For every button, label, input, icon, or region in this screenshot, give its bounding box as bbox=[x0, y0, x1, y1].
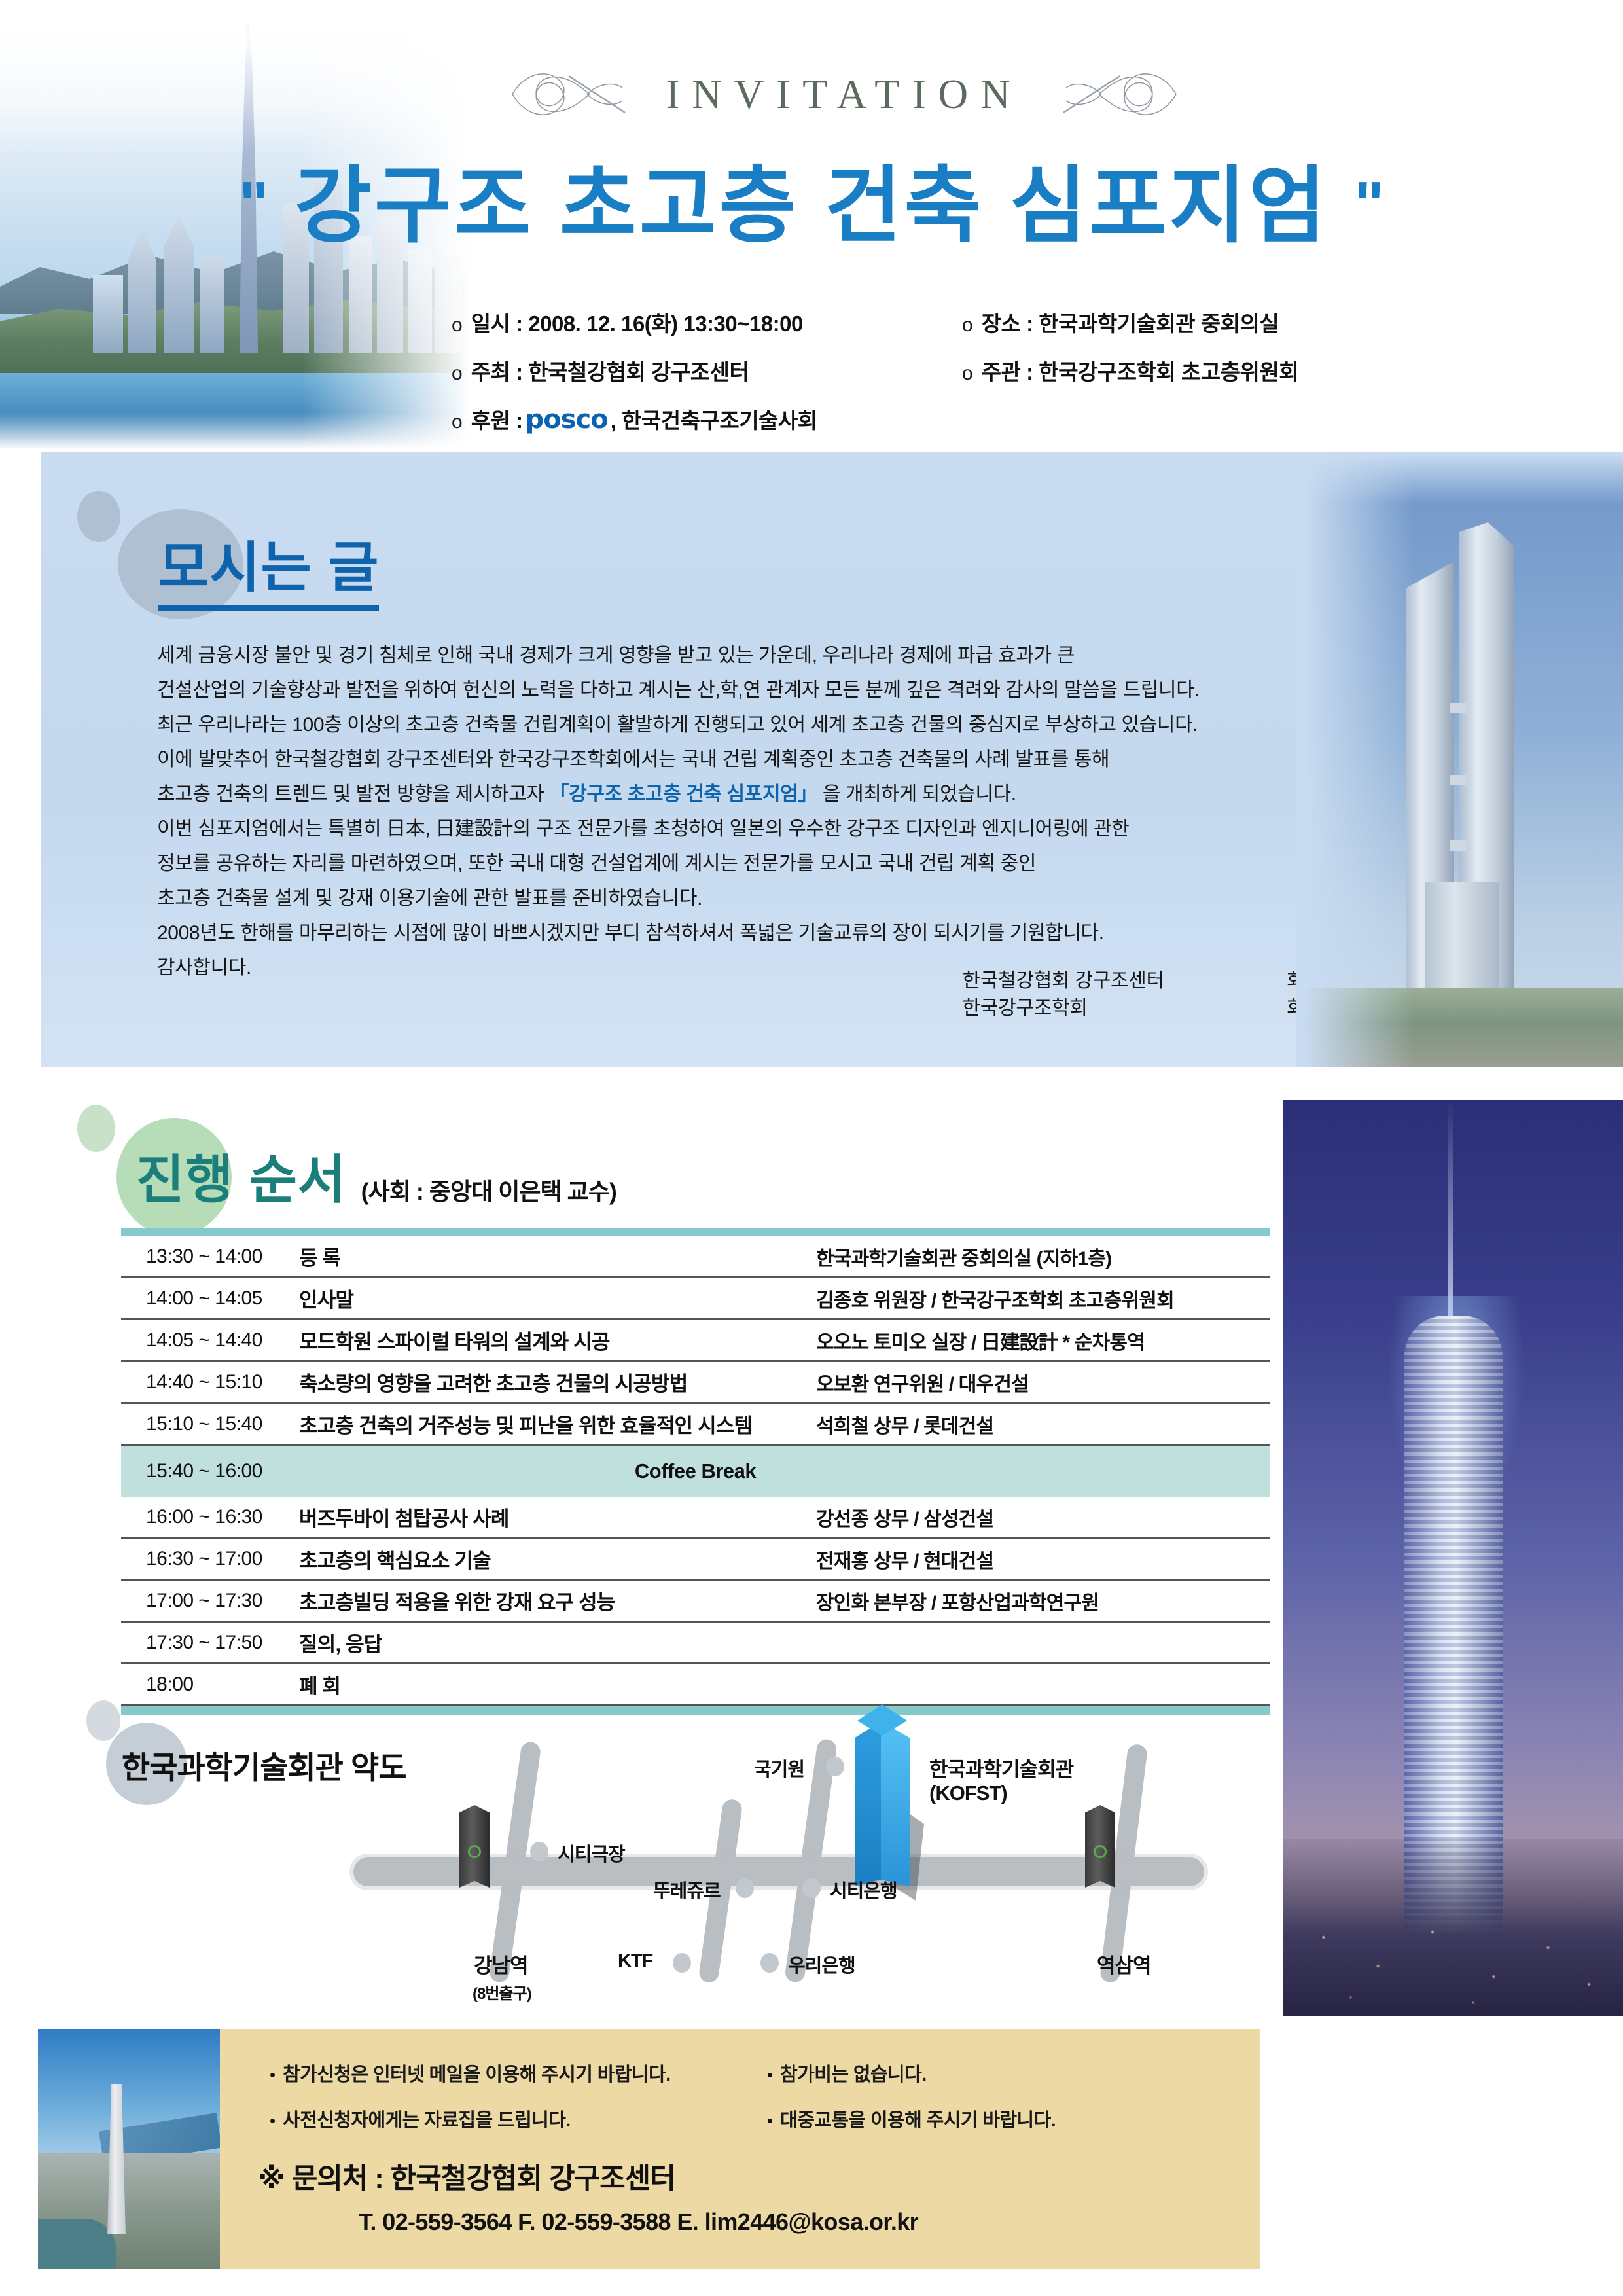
footer-note-text: 참가비는 없습니다. bbox=[780, 2059, 927, 2087]
table-row: 17:00 ~ 17:30 초고층빌딩 적용을 위한 강재 요구 성능 장인화 … bbox=[121, 1581, 1270, 1623]
row-time: 15:10 ~ 15:40 bbox=[121, 1413, 299, 1435]
greeting-paragraph-highlight: 초고층 건축의 트렌드 및 발전 방향을 제시하고자 「강구조 초고층 건축 심… bbox=[157, 777, 1315, 812]
meta-sponsor-suffix: , 한국건축구조기술사회 bbox=[611, 403, 817, 435]
subway-icon bbox=[1094, 1845, 1107, 1858]
greeting-paragraph: 건설산업의 기술향상과 발전을 위하여 헌신의 노력을 다하고 계시는 산,학,… bbox=[157, 673, 1315, 708]
row-speaker: 강선종 상무 / 삼성건설 bbox=[816, 1503, 1270, 1532]
footer-info-panel: • 참가신청은 인터넷 메일을 이용해 주시기 바랍니다. • 참가비는 없습니… bbox=[220, 2029, 1260, 2269]
twin-skybridge bbox=[1450, 775, 1467, 785]
meta-item-organizer: o 주관 : 한국강구조학회 초고층위원회 bbox=[962, 355, 1472, 386]
row-title: 질의, 응답 bbox=[299, 1628, 816, 1657]
program-title-text: 진행 순서 bbox=[136, 1138, 347, 1213]
subway-icon bbox=[468, 1845, 481, 1858]
row-title: 인사말 bbox=[299, 1283, 816, 1313]
table-row: 14:00 ~ 14:05 인사말 김종호 위원장 / 한국강구조학회 초고층위… bbox=[121, 1278, 1270, 1320]
contact-title: ※ 문의처 : 한국철강협회 강구조센터 bbox=[258, 2156, 675, 2197]
greeting-paragraph: 이번 심포지엄에서는 특별히 日本, 日建設計의 구조 전문가를 초청하여 일본… bbox=[157, 812, 1315, 846]
footer-note-text: 사전신청자에게는 자료집을 드립니다. bbox=[283, 2105, 571, 2132]
row-speaker: 장인화 본부장 / 포항산업과학연구원 bbox=[816, 1587, 1270, 1615]
greeting-paragraph: 세계 금융시장 불안 및 경기 침체로 인해 국내 경제가 크게 영향을 받고 … bbox=[157, 638, 1315, 673]
decor-blob-small-green bbox=[77, 1105, 115, 1152]
decor-blob-small-gray bbox=[86, 1700, 120, 1741]
row-time: 14:00 ~ 14:05 bbox=[121, 1287, 299, 1310]
flourish-right-icon bbox=[1058, 64, 1183, 124]
map-dot-icon bbox=[530, 1842, 548, 1861]
map-dot-icon bbox=[736, 1878, 754, 1898]
bullet-icon: o bbox=[962, 315, 973, 335]
table-row: 17:30 ~ 17:50 질의, 응답 bbox=[121, 1623, 1270, 1664]
kofst-building-icon bbox=[855, 1704, 910, 1901]
row-time: 16:30 ~ 17:00 bbox=[121, 1548, 299, 1570]
bullet-icon: o bbox=[452, 364, 463, 384]
table-row: 16:00 ~ 16:30 버즈두바이 첨탑공사 사례 강선종 상무 / 삼성건… bbox=[121, 1497, 1270, 1539]
highlight-after: 을 개최하게 되었습니다. bbox=[817, 783, 1016, 805]
map-landmark-ktf: KTF bbox=[618, 1950, 652, 1972]
highlight-before: 초고층 건축의 트렌드 및 발전 방향을 제시하고자 bbox=[157, 783, 550, 805]
symposium-name-highlight: 「강구조 초고층 건축 심포지엄」 bbox=[550, 783, 817, 805]
map-station-label-gangnam: 강남역 bbox=[474, 1949, 528, 1979]
venue-map: 한국과학기술회관 (KOFST) 국기원 시티극장 뚜레쥬르 시티은행 KTF … bbox=[314, 1682, 1243, 1990]
table-row: 16:30 ~ 17:00 초고층의 핵심요소 기술 전재홍 상무 / 현대건설 bbox=[121, 1539, 1270, 1581]
bullet-icon: o bbox=[962, 364, 973, 384]
hero-fade-bottom bbox=[0, 412, 497, 452]
map-venue-label-line2: (KOFST) bbox=[929, 1782, 1007, 1805]
meta-row: o 후원 : posco , 한국건축구조기술사회 bbox=[452, 403, 1472, 435]
map-station-label-yeoksam: 역삼역 bbox=[1097, 1949, 1151, 1979]
invitation-label: INVITATION bbox=[666, 71, 1022, 118]
night-tower-image bbox=[1283, 1100, 1623, 2016]
title-open-quote: " bbox=[239, 169, 269, 239]
twin-skybridge bbox=[1450, 840, 1467, 851]
map-landmark-gukkiwon: 국기원 bbox=[754, 1754, 804, 1782]
row-title: 등 록 bbox=[299, 1242, 816, 1271]
row-time: 18:00 bbox=[121, 1674, 299, 1696]
hero-building bbox=[93, 275, 123, 353]
hero-building bbox=[200, 255, 224, 353]
table-row: 14:05 ~ 14:40 모드학원 스파이럴 타워의 설계와 시공 오오노 토… bbox=[121, 1320, 1270, 1362]
row-time: 14:40 ~ 15:10 bbox=[121, 1371, 299, 1393]
building-roof bbox=[857, 1704, 907, 1736]
greeting-paragraph: 최근 우리나라는 100층 이상의 초고층 건축물 건립계획이 활발하게 진행되… bbox=[157, 708, 1315, 742]
footer-notes: • 참가신청은 인터넷 메일을 이용해 주시기 바랍니다. • 참가비는 없습니… bbox=[270, 2059, 1212, 2151]
greeting-paragraph: 정보를 공유하는 자리를 마련하였으며, 또한 국내 대형 건설업계에 계시는 … bbox=[157, 846, 1315, 881]
table-row: 13:30 ~ 14:00 등 록 한국과학기술회관 중회의실 (지하1층) bbox=[121, 1236, 1270, 1278]
footer-note: • 사전신청자에게는 자료집을 드립니다. bbox=[270, 2105, 767, 2132]
map-station-marker-yeoksam bbox=[1085, 1805, 1115, 1888]
bullet-icon: • bbox=[767, 2065, 773, 2085]
map-landmark-tous-les-jours: 뚜레쥬르 bbox=[653, 1876, 721, 1903]
greeting-title: 모시는 글 bbox=[158, 524, 379, 611]
map-station-marker-gangnam bbox=[459, 1805, 490, 1888]
meta-venue-text: 장소 : 한국과학기술회관 중회의실 bbox=[982, 306, 1279, 338]
bullet-icon: o bbox=[452, 412, 463, 432]
row-title: Coffee Break bbox=[635, 1460, 756, 1483]
row-speaker: 한국과학기술회관 중회의실 (지하1층) bbox=[816, 1242, 1270, 1271]
decor-blob-small bbox=[77, 491, 120, 542]
building-face-left bbox=[855, 1721, 881, 1886]
program-moderator: (사회 : 중앙대 이은택 교수) bbox=[361, 1173, 616, 1213]
footer-note-row: • 사전신청자에게는 자료집을 드립니다. • 대중교통을 이용해 주시기 바랍… bbox=[270, 2105, 1212, 2132]
program-title: 진행 순서 (사회 : 중앙대 이은택 교수) bbox=[136, 1138, 616, 1213]
footer-note: • 참가비는 없습니다. bbox=[767, 2059, 927, 2087]
meta-item-host: o 주최 : 한국철강협회 강구조센터 bbox=[452, 355, 962, 386]
meta-item-sponsor: o 후원 : posco , 한국건축구조기술사회 bbox=[452, 403, 1472, 435]
map-dot-icon bbox=[826, 1757, 844, 1776]
map-landmark-city-theater: 시티극장 bbox=[558, 1839, 625, 1867]
bullet-icon: • bbox=[767, 2111, 773, 2131]
meta-organizer-text: 주관 : 한국강구조학회 초고층위원회 bbox=[982, 355, 1298, 386]
title-text: 강구조 초고층 건축 심포지엄 bbox=[294, 159, 1329, 253]
greeting-paragraph: 이에 발맞추어 한국철강협회 강구조센터와 한국강구조학회에서는 국내 건립 계… bbox=[157, 742, 1315, 777]
row-speaker: 오오노 토미오 실장 / 日建設計 * 순차통역 bbox=[816, 1326, 1270, 1355]
row-title: 초고층빌딩 적용을 위한 강재 요구 성능 bbox=[299, 1586, 816, 1615]
twin-tower-image bbox=[1296, 452, 1623, 1067]
footer-lake bbox=[38, 2219, 116, 2269]
invitation-poster: INVITATION " 강구조 초고층 건축 심포지엄 " o 일시 : bbox=[0, 0, 1623, 2296]
title-close-quote: " bbox=[1354, 169, 1384, 239]
row-speaker: 석희철 상무 / 롯데건설 bbox=[816, 1410, 1270, 1439]
night-city-lights bbox=[1283, 1885, 1623, 2016]
map-dot-icon bbox=[760, 1953, 779, 1973]
row-speaker: 오보환 연구위원 / 대우건설 bbox=[816, 1368, 1270, 1397]
row-time: 14:05 ~ 14:40 bbox=[121, 1329, 299, 1352]
twin-fade-top bbox=[1296, 452, 1623, 504]
twin-skybridge bbox=[1450, 703, 1467, 713]
flourish-left-icon bbox=[506, 64, 630, 124]
signature-org: 한국강구조학회 bbox=[963, 995, 1257, 1022]
row-title: 초고층의 핵심요소 기술 bbox=[299, 1544, 816, 1573]
page-title: " 강구조 초고층 건축 심포지엄 " bbox=[0, 137, 1623, 259]
event-meta: o 일시 : 2008. 12. 16(화) 13:30~18:00 o 장소 … bbox=[452, 306, 1472, 452]
row-title: 버즈두바이 첨탑공사 사례 bbox=[299, 1502, 816, 1532]
table-top-rule bbox=[121, 1228, 1270, 1236]
footer-tower-image bbox=[38, 2029, 220, 2269]
poster-header: INVITATION " 강구조 초고층 건축 심포지엄 " o 일시 : bbox=[0, 0, 1623, 452]
row-time: 17:00 ~ 17:30 bbox=[121, 1590, 299, 1612]
row-title: 모드학원 스파이럴 타워의 설계와 시공 bbox=[299, 1325, 816, 1355]
twin-fade-left bbox=[1296, 452, 1414, 1067]
bullet-icon: o bbox=[452, 315, 463, 335]
table-row-coffee-break: 15:40 ~ 16:00 Coffee Break bbox=[121, 1446, 1270, 1497]
meta-row: o 일시 : 2008. 12. 16(화) 13:30~18:00 o 장소 … bbox=[452, 306, 1472, 338]
table-row: 14:40 ~ 15:10 축소량의 영향을 고려한 초고층 건물의 시공방법 … bbox=[121, 1362, 1270, 1404]
bullet-icon: • bbox=[270, 2065, 276, 2085]
meta-date-text: 일시 : 2008. 12. 16(화) 13:30~18:00 bbox=[471, 306, 803, 338]
footer-note-row: • 참가신청은 인터넷 메일을 이용해 주시기 바랍니다. • 참가비는 없습니… bbox=[270, 2059, 1212, 2087]
row-speaker: 김종호 위원장 / 한국강구조학회 초고층위원회 bbox=[816, 1284, 1270, 1313]
program-table: 13:30 ~ 14:00 등 록 한국과학기술회관 중회의실 (지하1층) 1… bbox=[121, 1228, 1270, 1715]
map-station-exit-gangnam: (8번출구) bbox=[473, 1981, 531, 2003]
row-speaker: 전재홍 상무 / 현대건설 bbox=[816, 1545, 1270, 1573]
footer-note: • 참가신청은 인터넷 메일을 이용해 주시기 바랍니다. bbox=[270, 2059, 767, 2087]
meta-item-date: o 일시 : 2008. 12. 16(화) 13:30~18:00 bbox=[452, 306, 962, 338]
row-time: 15:40 ~ 16:00 bbox=[121, 1460, 299, 1482]
greeting-paragraph: 초고층 건축물 설계 및 강재 이용기술에 관한 발표를 준비하였습니다. bbox=[157, 881, 1315, 916]
contact-details: T. 02-559-3564 F. 02-559-3588 E. lim2446… bbox=[359, 2208, 918, 2236]
map-venue-label-line1: 한국과학기술회관 bbox=[929, 1753, 1073, 1782]
row-title: 초고층 건축의 거주성능 및 피난을 위한 효율적인 시스템 bbox=[299, 1409, 816, 1439]
meta-item-venue: o 장소 : 한국과학기술회관 중회의실 bbox=[962, 306, 1472, 338]
table-row: 15:10 ~ 15:40 초고층 건축의 거주성능 및 피난을 위한 효율적인… bbox=[121, 1404, 1270, 1446]
footer-note: • 대중교통을 이용해 주시기 바랍니다. bbox=[767, 2105, 1056, 2132]
meta-sponsor-prefix: 후원 : bbox=[471, 403, 523, 435]
footer-note-text: 참가신청은 인터넷 메일을 이용해 주시기 바랍니다. bbox=[283, 2059, 670, 2087]
row-time: 17:30 ~ 17:50 bbox=[121, 1632, 299, 1654]
map-landmark-woori-bank: 우리은행 bbox=[788, 1950, 855, 1978]
row-title: 축소량의 영향을 고려한 초고층 건물의 시공방법 bbox=[299, 1367, 816, 1397]
footer-note-text: 대중교통을 이용해 주시기 바랍니다. bbox=[780, 2105, 1056, 2132]
greeting-section: 모시는 글 세계 금융시장 불안 및 경기 침체로 인해 국내 경제가 크게 영… bbox=[41, 452, 1623, 1067]
row-time: 13:30 ~ 14:00 bbox=[121, 1246, 299, 1268]
meta-row: o 주최 : 한국철강협회 강구조센터 o 주관 : 한국강구조학회 초고층위원… bbox=[452, 355, 1472, 386]
greeting-body: 세계 금융시장 불안 및 경기 침체로 인해 국내 경제가 크게 영향을 받고 … bbox=[157, 638, 1315, 985]
invitation-wordmark: INVITATION bbox=[419, 64, 1270, 124]
posco-logo: posco bbox=[523, 404, 611, 435]
map-dot-icon bbox=[673, 1953, 691, 1973]
row-time: 16:00 ~ 16:30 bbox=[121, 1506, 299, 1528]
map-dot-icon bbox=[802, 1878, 821, 1898]
meta-host-text: 주최 : 한국철강협회 강구조센터 bbox=[471, 355, 749, 386]
signature-org: 한국철강협회 강구조센터 bbox=[963, 967, 1257, 995]
building-face-right bbox=[881, 1721, 910, 1886]
bullet-icon: • bbox=[270, 2111, 276, 2131]
map-landmark-citibank: 시티은행 bbox=[830, 1876, 897, 1903]
